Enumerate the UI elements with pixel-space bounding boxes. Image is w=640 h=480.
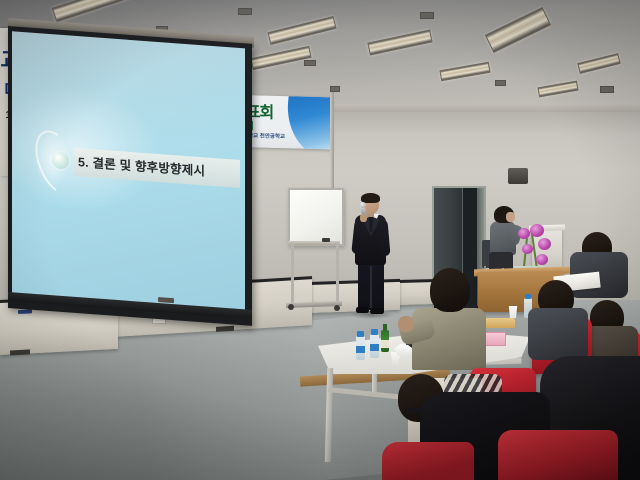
bullet-dot-icon [52,151,69,169]
whiteboard[interactable] [288,188,344,246]
bottle-cap [357,331,364,337]
presenter-leg-seam [370,266,372,308]
audience-member-body [528,308,588,360]
whiteboard-leg [291,242,294,304]
ceiling-vent [304,60,316,66]
green-bottle-label [381,340,389,348]
presenter-arm [376,220,390,257]
microphone-head-icon [360,202,366,208]
whiteboard-caster [288,304,294,310]
ceiling-light [250,46,311,70]
orchid-flower [522,244,533,254]
auditorium-seat[interactable] [498,430,618,480]
presenter-shoe [356,307,369,313]
lecture-hall-photo: 교 대 대구 · 1. 20(금) 1 발표회 표회 구대학교 천안공학교 5.… [0,0,640,480]
bottle-cap [371,329,378,335]
bottle-label [356,346,365,353]
projection-screen-surface: 5. 결론 및 향후방향제시 [12,31,245,315]
wall-speaker-icon [508,168,528,184]
ceiling-vent [600,86,614,93]
cabinet-badge [18,309,32,314]
whiteboard-caster [334,305,340,311]
banner-swoosh-graphic [283,95,332,150]
whiteboard-marker-tray [288,241,340,245]
ceiling-vent [420,12,434,19]
orchid-flower [518,228,530,239]
orchid-flower [538,238,551,250]
ceiling-light [367,29,432,55]
projection-screen: 5. 결론 및 향후방향제시 [8,26,252,326]
presenter [348,194,394,322]
audience-member-head [430,268,470,312]
whiteboard-leg [336,242,339,304]
ceiling-light [52,0,140,22]
ceiling-light [267,16,336,45]
staff-face [506,212,515,222]
presenter-shoe [370,308,384,314]
ceiling-light [439,62,490,82]
audience-member-hand [398,316,414,332]
projection-screen-handle[interactable] [158,297,174,303]
ceiling-light [577,53,620,74]
ceiling-vent [495,80,506,86]
whiteboard-marker[interactable] [322,238,330,242]
auditorium-seat[interactable] [382,442,474,480]
orchid-flower [530,224,544,237]
presenter-hand [360,214,367,222]
ceiling-light [485,7,551,53]
bottle-label [370,344,379,351]
ceiling-light [537,81,578,98]
ceiling-vent [238,8,252,15]
